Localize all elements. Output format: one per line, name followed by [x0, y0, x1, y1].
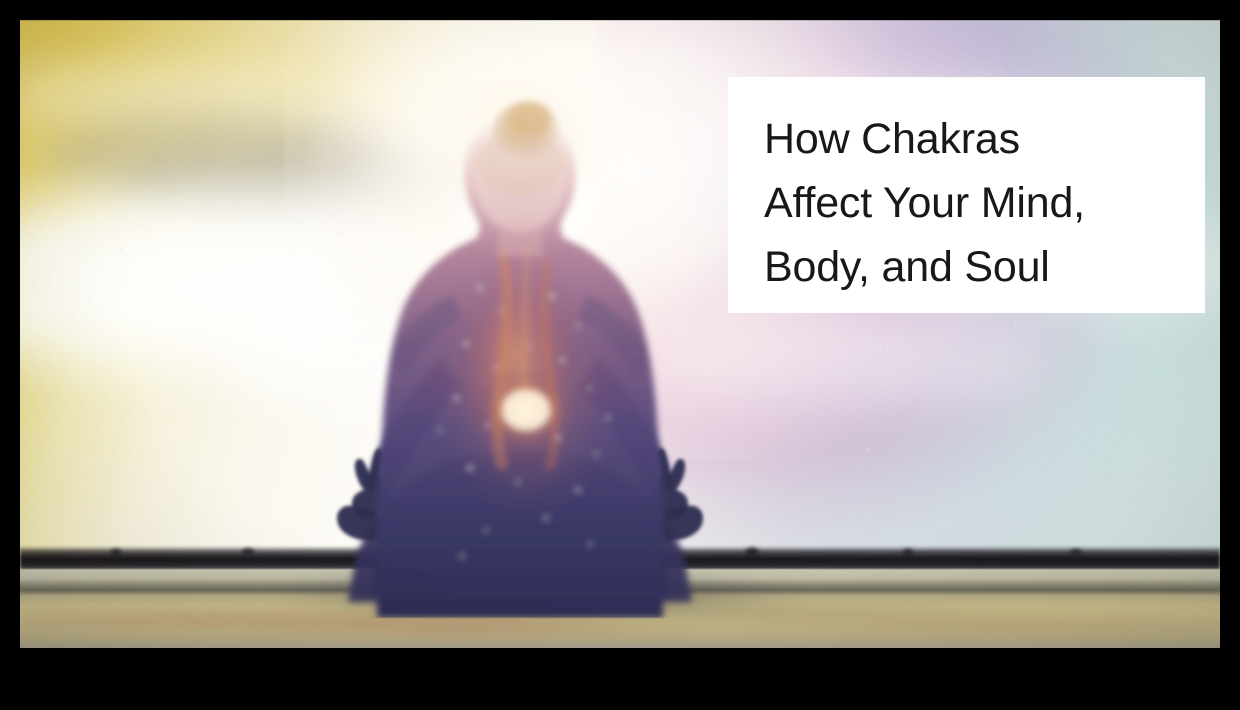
figure-silhouette [290, 58, 750, 618]
page-title: How Chakras Affect Your Mind, Body, and … [764, 107, 1205, 299]
title-card: How Chakras Affect Your Mind, Body, and … [728, 77, 1205, 313]
image-frame: How Chakras Affect Your Mind, Body, and … [0, 0, 1240, 710]
meditating-figure [290, 58, 750, 618]
banner-image: How Chakras Affect Your Mind, Body, and … [20, 20, 1220, 648]
